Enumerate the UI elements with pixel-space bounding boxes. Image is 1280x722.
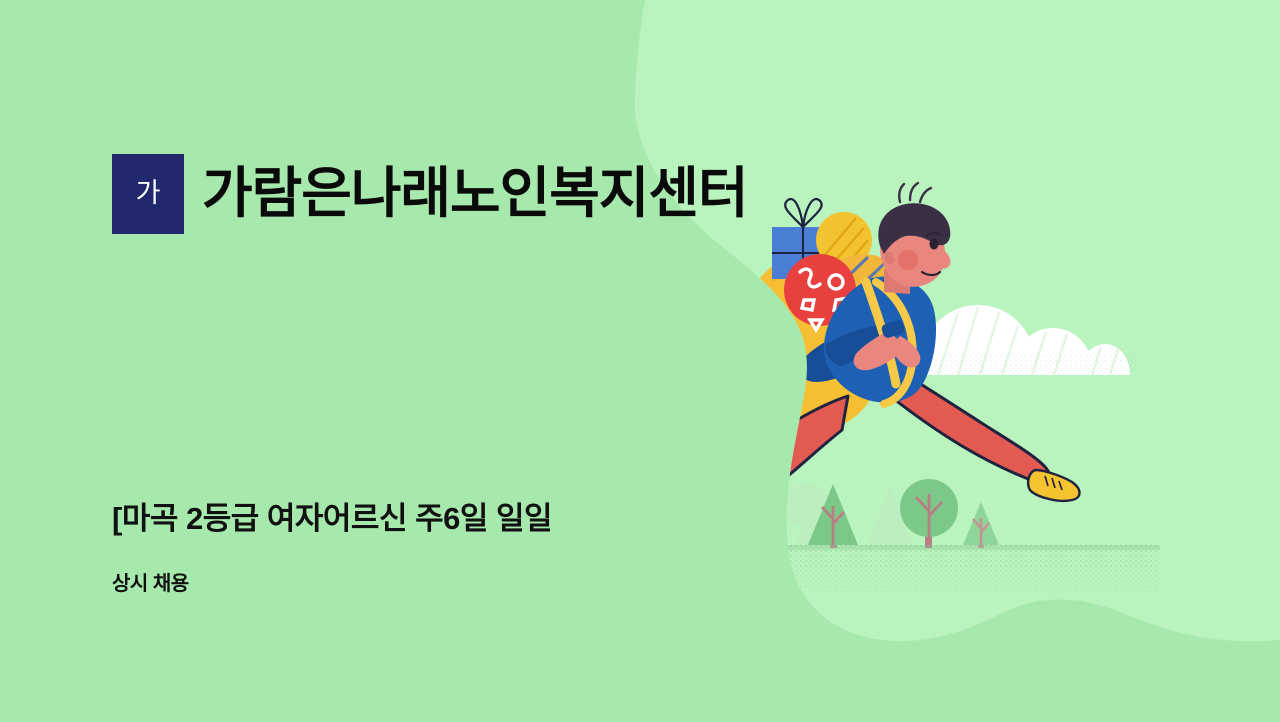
tree-cone [690,492,734,548]
background-blob [635,0,1280,641]
company-logo-initial: 가 [136,180,161,207]
job-title: [마곡 2등급 여자어르신 주6일 일일 [112,500,552,537]
runner-front-shoe [1028,470,1079,501]
sun-icon [654,300,718,364]
runner-front-arm [854,319,921,370]
runner-back-leg [715,396,848,508]
gift-ball-striped [832,254,898,311]
company-name: 가람은나래노인복지센터 [202,165,748,223]
runner-back-shoe [685,490,735,517]
gift-box [772,199,834,279]
tree-row [690,479,999,548]
sack-strap [866,282,913,404]
runner-back-arm [800,322,872,382]
gift-sack [731,255,880,432]
gift-ball-red [784,254,856,330]
tree-cone-small [963,502,999,548]
white-bush-right [916,305,1136,375]
background-base [0,0,1280,722]
runner-head [878,183,950,294]
runner-torso [824,276,936,402]
white-bush-left [618,336,734,374]
ground-band [660,545,1160,605]
tree-cone-dark [808,484,858,548]
job-posting-card: 가 가람은나래노인복지센터 [마곡 2등급 여자어르신 주6일 일일 상시 채용 [0,0,1280,722]
tree-round-dark [900,479,958,548]
company-logo-badge: 가 [112,154,184,234]
hiring-status-label: 상시 채용 [112,572,189,596]
gift-ball-yellow [816,212,872,268]
background-illustration [0,0,1280,722]
tree-round [733,488,781,548]
runner-front-leg [880,370,1050,484]
company-header: 가 가람은나래노인복지센터 [112,128,748,259]
